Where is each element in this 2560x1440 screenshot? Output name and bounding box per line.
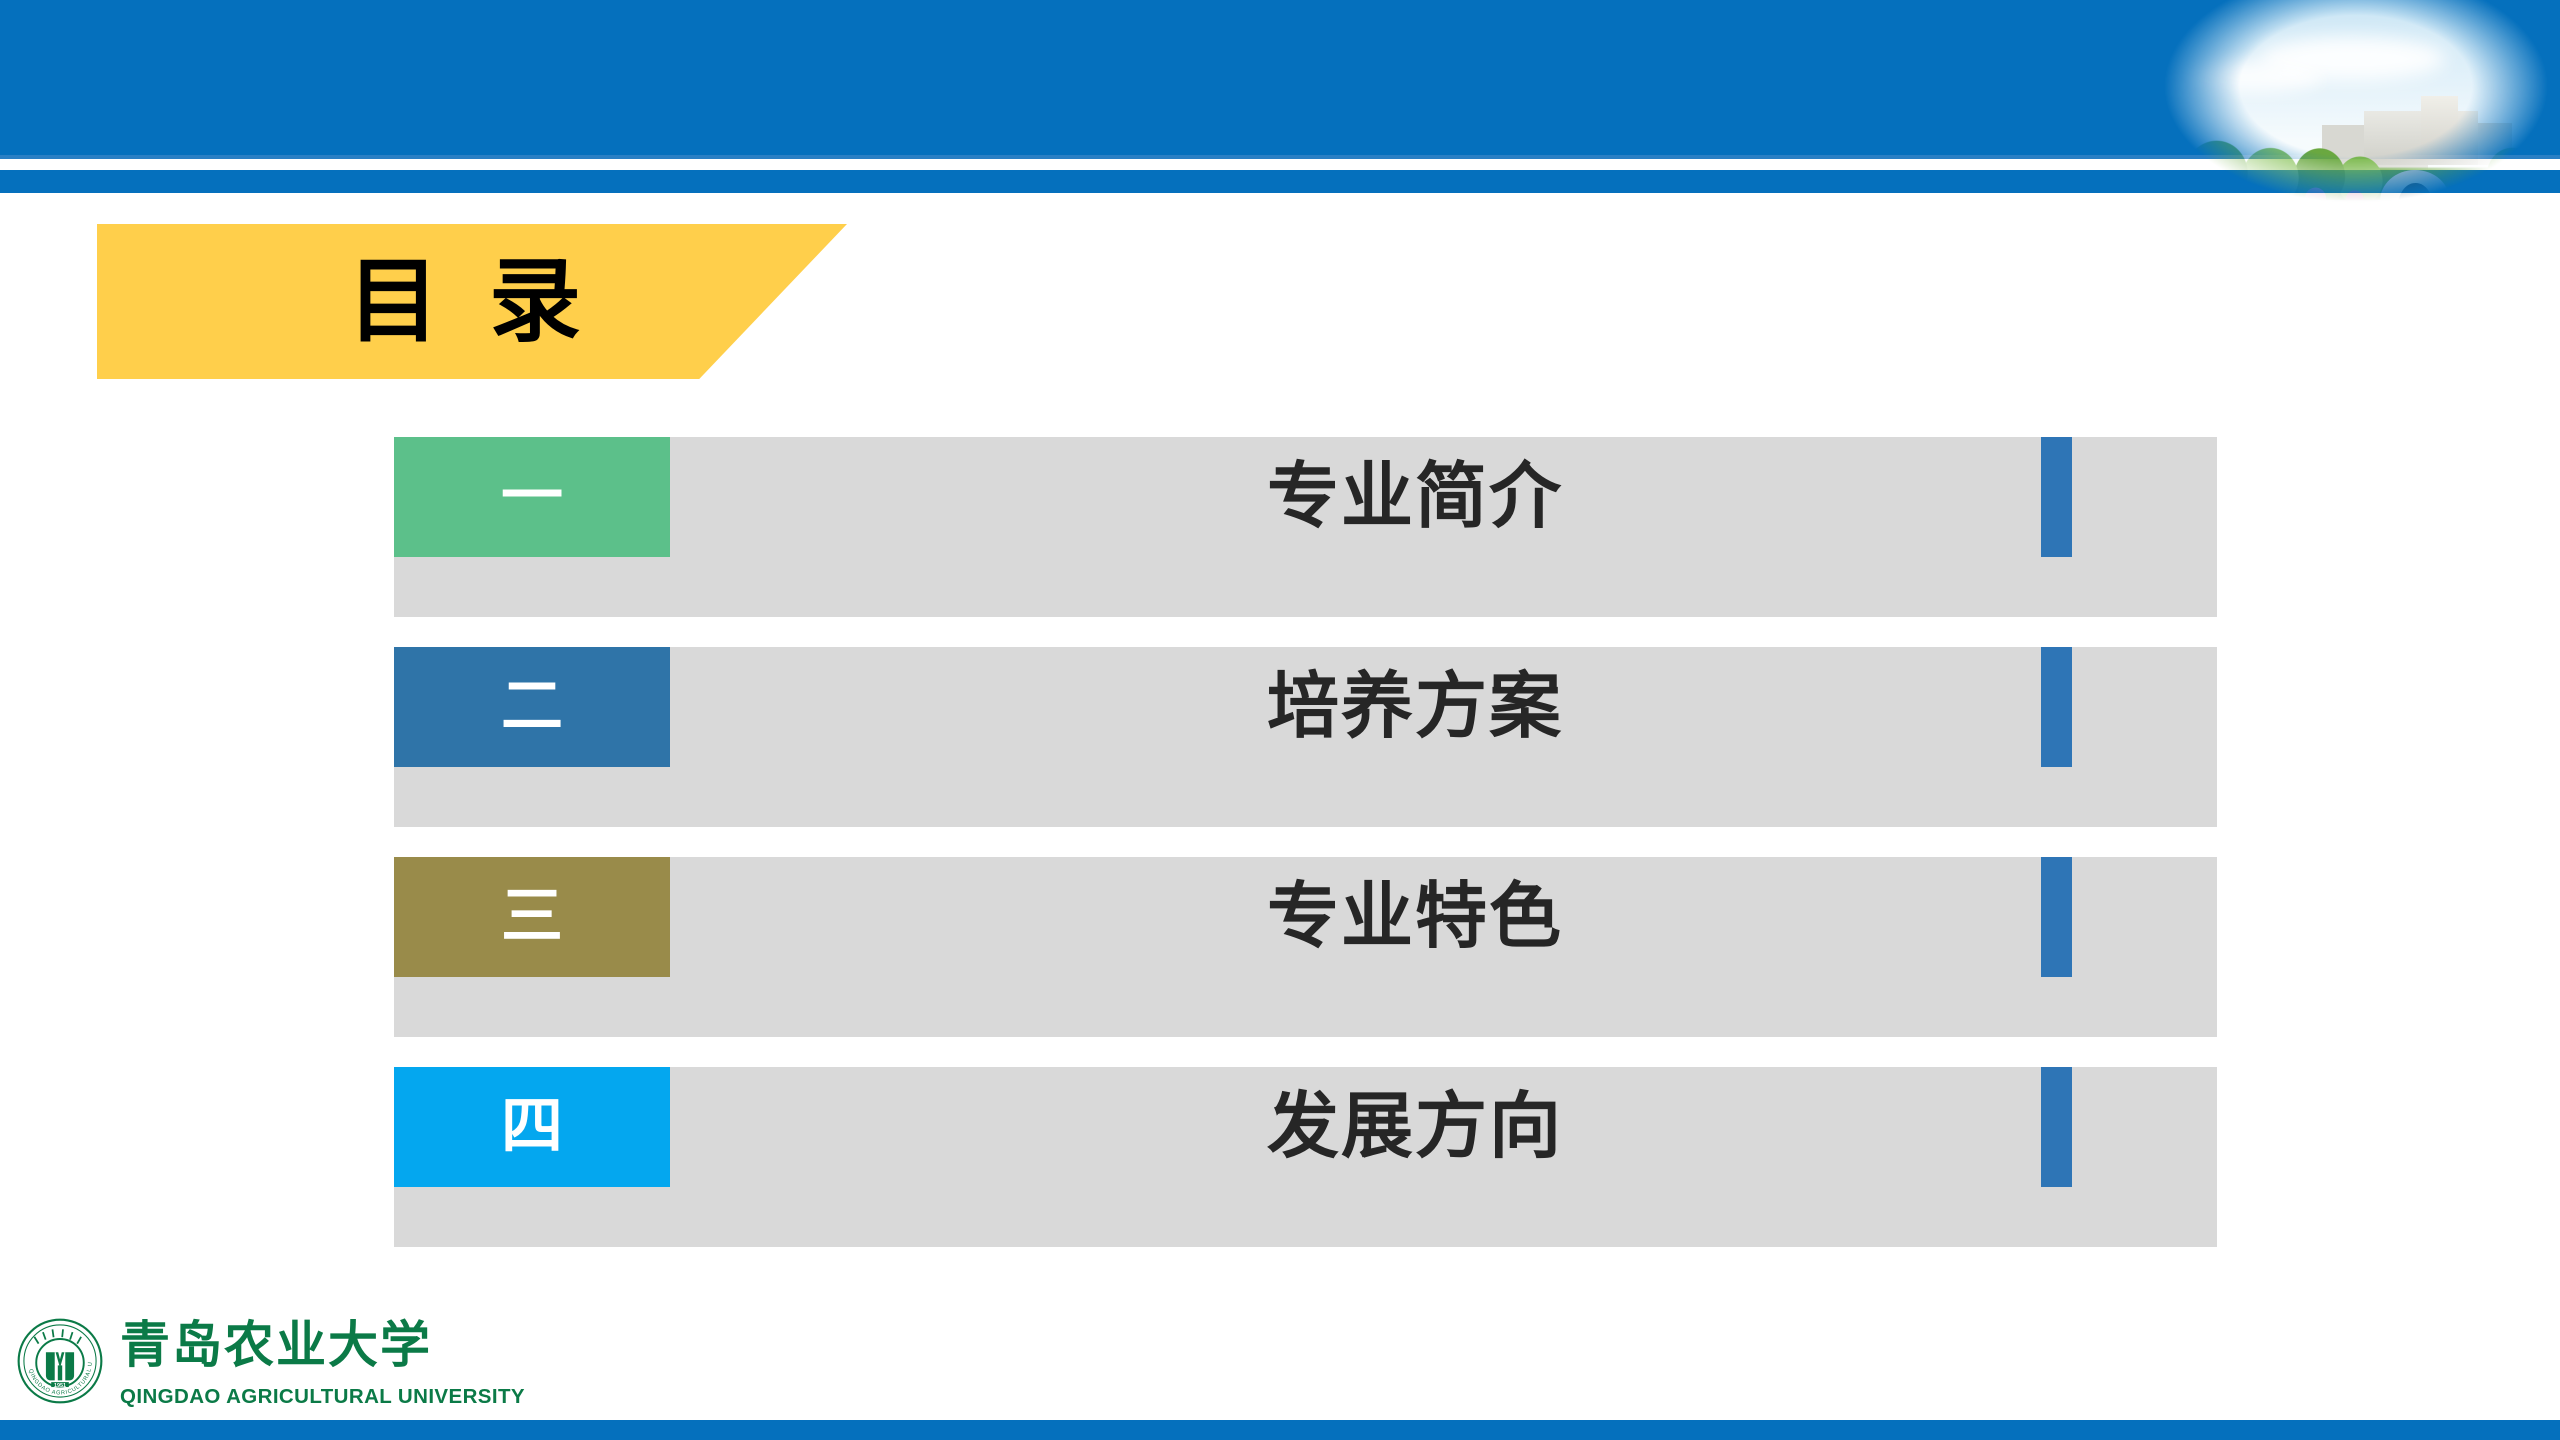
toc-number-badge: 三: [394, 857, 670, 977]
presentation-slide: 目 录 一 专业简介 二 培养方案 三 专业特色 四: [0, 0, 2560, 1440]
toc-row[interactable]: 一 专业简介: [394, 437, 2217, 617]
toc-accent-bar: [2041, 437, 2072, 557]
toc-row[interactable]: 四 发展方向: [394, 1067, 2217, 1247]
toc-number-badge: 一: [394, 437, 670, 557]
toc-number-badge: 二: [394, 647, 670, 767]
photo-water: [2152, 200, 2560, 210]
toc-number-label: 二: [501, 676, 563, 738]
toc-list: 一 专业简介 二 培养方案 三 专业特色 四 发展方向: [394, 437, 2217, 1277]
campus-photo: [2152, 0, 2560, 210]
toc-item-label: 专业特色: [670, 857, 2160, 977]
campus-photo-oval-mask: [2152, 0, 2560, 210]
toc-accent-bar: [2041, 1067, 2072, 1187]
toc-accent-bar: [2041, 857, 2072, 977]
toc-row[interactable]: 三 专业特色: [394, 857, 2217, 1037]
emblem-year: 1951: [54, 1383, 66, 1389]
toc-item-label: 培养方案: [670, 647, 2160, 767]
toc-accent-bar: [2041, 647, 2072, 767]
university-logo: 1951 QINGDAO AGRICULTURAL UNIVERSITY 青岛农…: [16, 1315, 386, 1411]
footer-band: [0, 1420, 2560, 1440]
university-name-en: QINGDAO AGRICULTURAL UNIVERSITY: [120, 1385, 396, 1409]
toc-number-label: 三: [501, 886, 563, 948]
toc-number-label: 四: [501, 1096, 563, 1158]
university-emblem-icon: 1951 QINGDAO AGRICULTURAL UNIVERSITY: [16, 1317, 104, 1405]
toc-item-label: 发展方向: [670, 1067, 2160, 1187]
toc-number-label: 一: [501, 466, 563, 528]
page-title: 目 录: [97, 224, 607, 379]
toc-row[interactable]: 二 培养方案: [394, 647, 2217, 827]
university-name-cn: 青岛农业大学: [120, 1319, 386, 1372]
toc-number-badge: 四: [394, 1067, 670, 1187]
toc-item-label: 专业简介: [670, 437, 2160, 557]
